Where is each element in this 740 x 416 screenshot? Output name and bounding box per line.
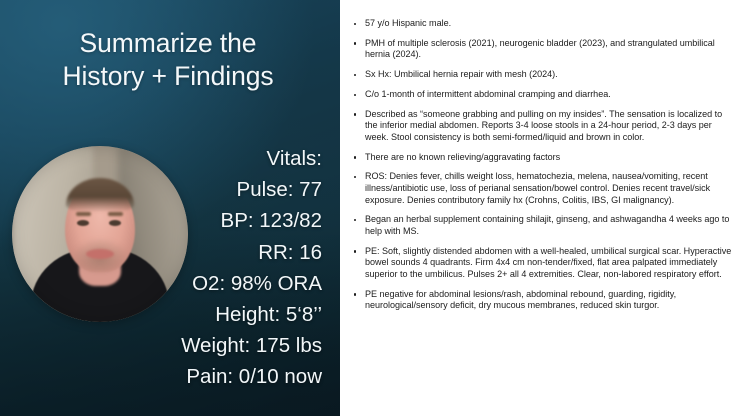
list-item: Described as “someone grabbing and pulli… xyxy=(352,109,732,144)
vital-pain-score: Pain: 0/10 now xyxy=(22,361,322,392)
list-item: PMH of multiple sclerosis (2021), neurog… xyxy=(352,38,732,61)
list-item: C/o 1-month of intermittent abdominal cr… xyxy=(352,89,732,101)
vitals-block: Vitals: Pulse: 77 BP: 123/82 RR: 16 O2: … xyxy=(22,143,322,393)
slide-title-line-1: Summarize the xyxy=(14,27,322,60)
list-item: 57 y/o Hispanic male. xyxy=(352,18,732,30)
slide-title-line-2: History + Findings xyxy=(14,60,322,93)
list-item: There are no known relieving/aggravating… xyxy=(352,152,732,164)
list-item: PE: Soft, slightly distended abdomen wit… xyxy=(352,246,732,281)
vital-blood-pressure: BP: 123/82 xyxy=(22,205,322,236)
history-findings-bullet-list: 57 y/o Hispanic male. PMH of multiple sc… xyxy=(352,18,732,312)
right-content-panel: 57 y/o Hispanic male. PMH of multiple sc… xyxy=(340,0,740,416)
vital-pulse: Pulse: 77 xyxy=(22,174,322,205)
presentation-slide: Summarize the History + Findings Vitals:… xyxy=(0,0,740,416)
slide-title: Summarize the History + Findings xyxy=(14,27,322,93)
list-item: PE negative for abdominal lesions/rash, … xyxy=(352,289,732,312)
vitals-heading: Vitals: xyxy=(22,143,322,174)
vital-oxygen-saturation: O2: 98% ORA xyxy=(22,268,322,299)
vital-height: Height: 5‘8’’ xyxy=(22,299,322,330)
vital-weight: Weight: 175 lbs xyxy=(22,330,322,361)
left-dark-panel: Summarize the History + Findings Vitals:… xyxy=(0,0,340,416)
list-item: ROS: Denies fever, chills weight loss, h… xyxy=(352,171,732,206)
list-item: Began an herbal supplement containing sh… xyxy=(352,214,732,237)
vital-respiratory-rate: RR: 16 xyxy=(22,237,322,268)
list-item: Sx Hx: Umbilical hernia repair with mesh… xyxy=(352,69,732,81)
